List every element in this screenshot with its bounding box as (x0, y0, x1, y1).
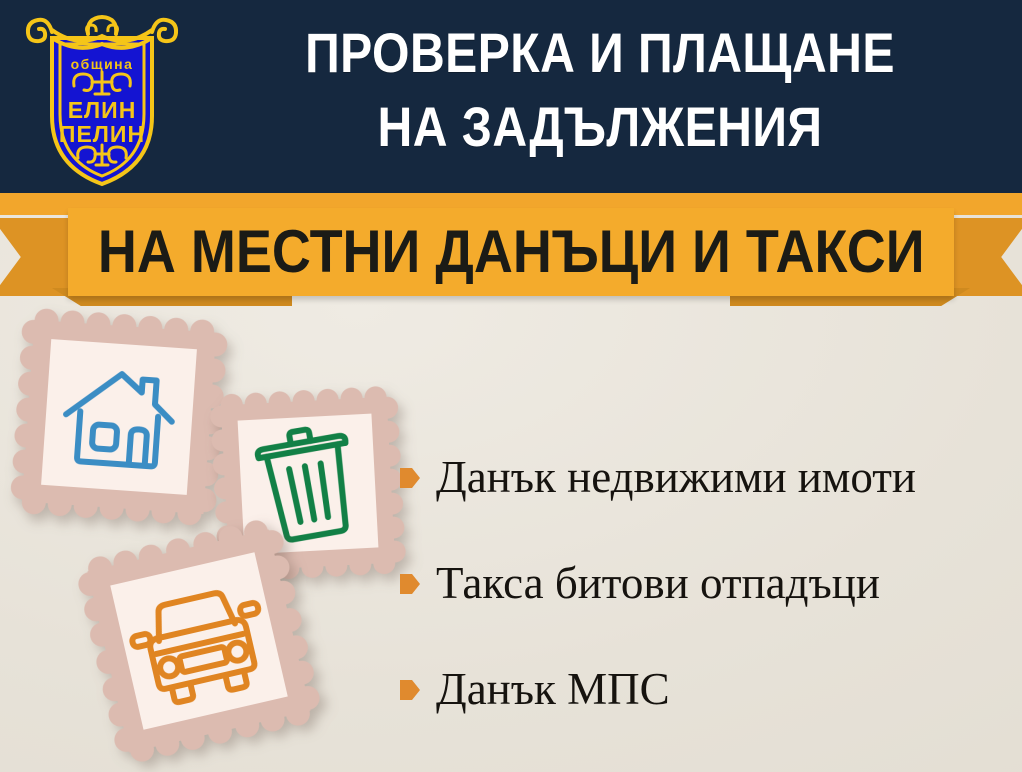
list-item[interactable]: Данък МПС (400, 636, 1010, 742)
poster-canvas: община ЕЛИН ПЕЛИН (0, 0, 1022, 772)
logo-name-line-1: ЕЛИН (68, 97, 137, 123)
poster-title-line-2: НА ЗАДЪЛЖЕНИЯ (244, 90, 956, 164)
logo-municipality-label: община (71, 56, 134, 72)
list-item-label: Данък МПС (436, 664, 670, 714)
list-item-label: Такса битови отпадъци (436, 558, 880, 608)
list-item[interactable]: Данък недвижими имоти (400, 424, 1010, 530)
coat-of-arms-logo: община ЕЛИН ПЕЛИН (22, 8, 182, 188)
list-item[interactable]: Такса битови отпадъци (400, 530, 1010, 636)
ribbon-label: НА МЕСТНИ ДАНЪЦИ И ТАКСИ (98, 222, 925, 282)
subtitle-ribbon: НА МЕСТНИ ДАНЪЦИ И ТАКСИ (0, 200, 1022, 310)
ribbon-panel: НА МЕСТНИ ДАНЪЦИ И ТАКСИ (68, 208, 954, 296)
arrow-bullet-icon (400, 572, 420, 596)
tax-types-list: Данък недвижими имоти Такса битови отпад… (400, 424, 1010, 742)
poster-title: ПРОВЕРКА И ПЛАЩАНЕ НА ЗАДЪЛЖЕНИЯ (186, 16, 1014, 164)
arrow-bullet-icon (400, 678, 420, 702)
poster-header: община ЕЛИН ПЕЛИН (0, 0, 1022, 193)
stamp-card-property (7, 305, 231, 529)
logo-name-line-2: ПЕЛИН (59, 121, 145, 147)
arrow-bullet-icon (400, 466, 420, 490)
list-item-label: Данък недвижими имоти (436, 452, 916, 502)
stamp-paper-property (41, 339, 197, 495)
poster-title-line-1: ПРОВЕРКА И ПЛАЩАНЕ (244, 16, 956, 90)
